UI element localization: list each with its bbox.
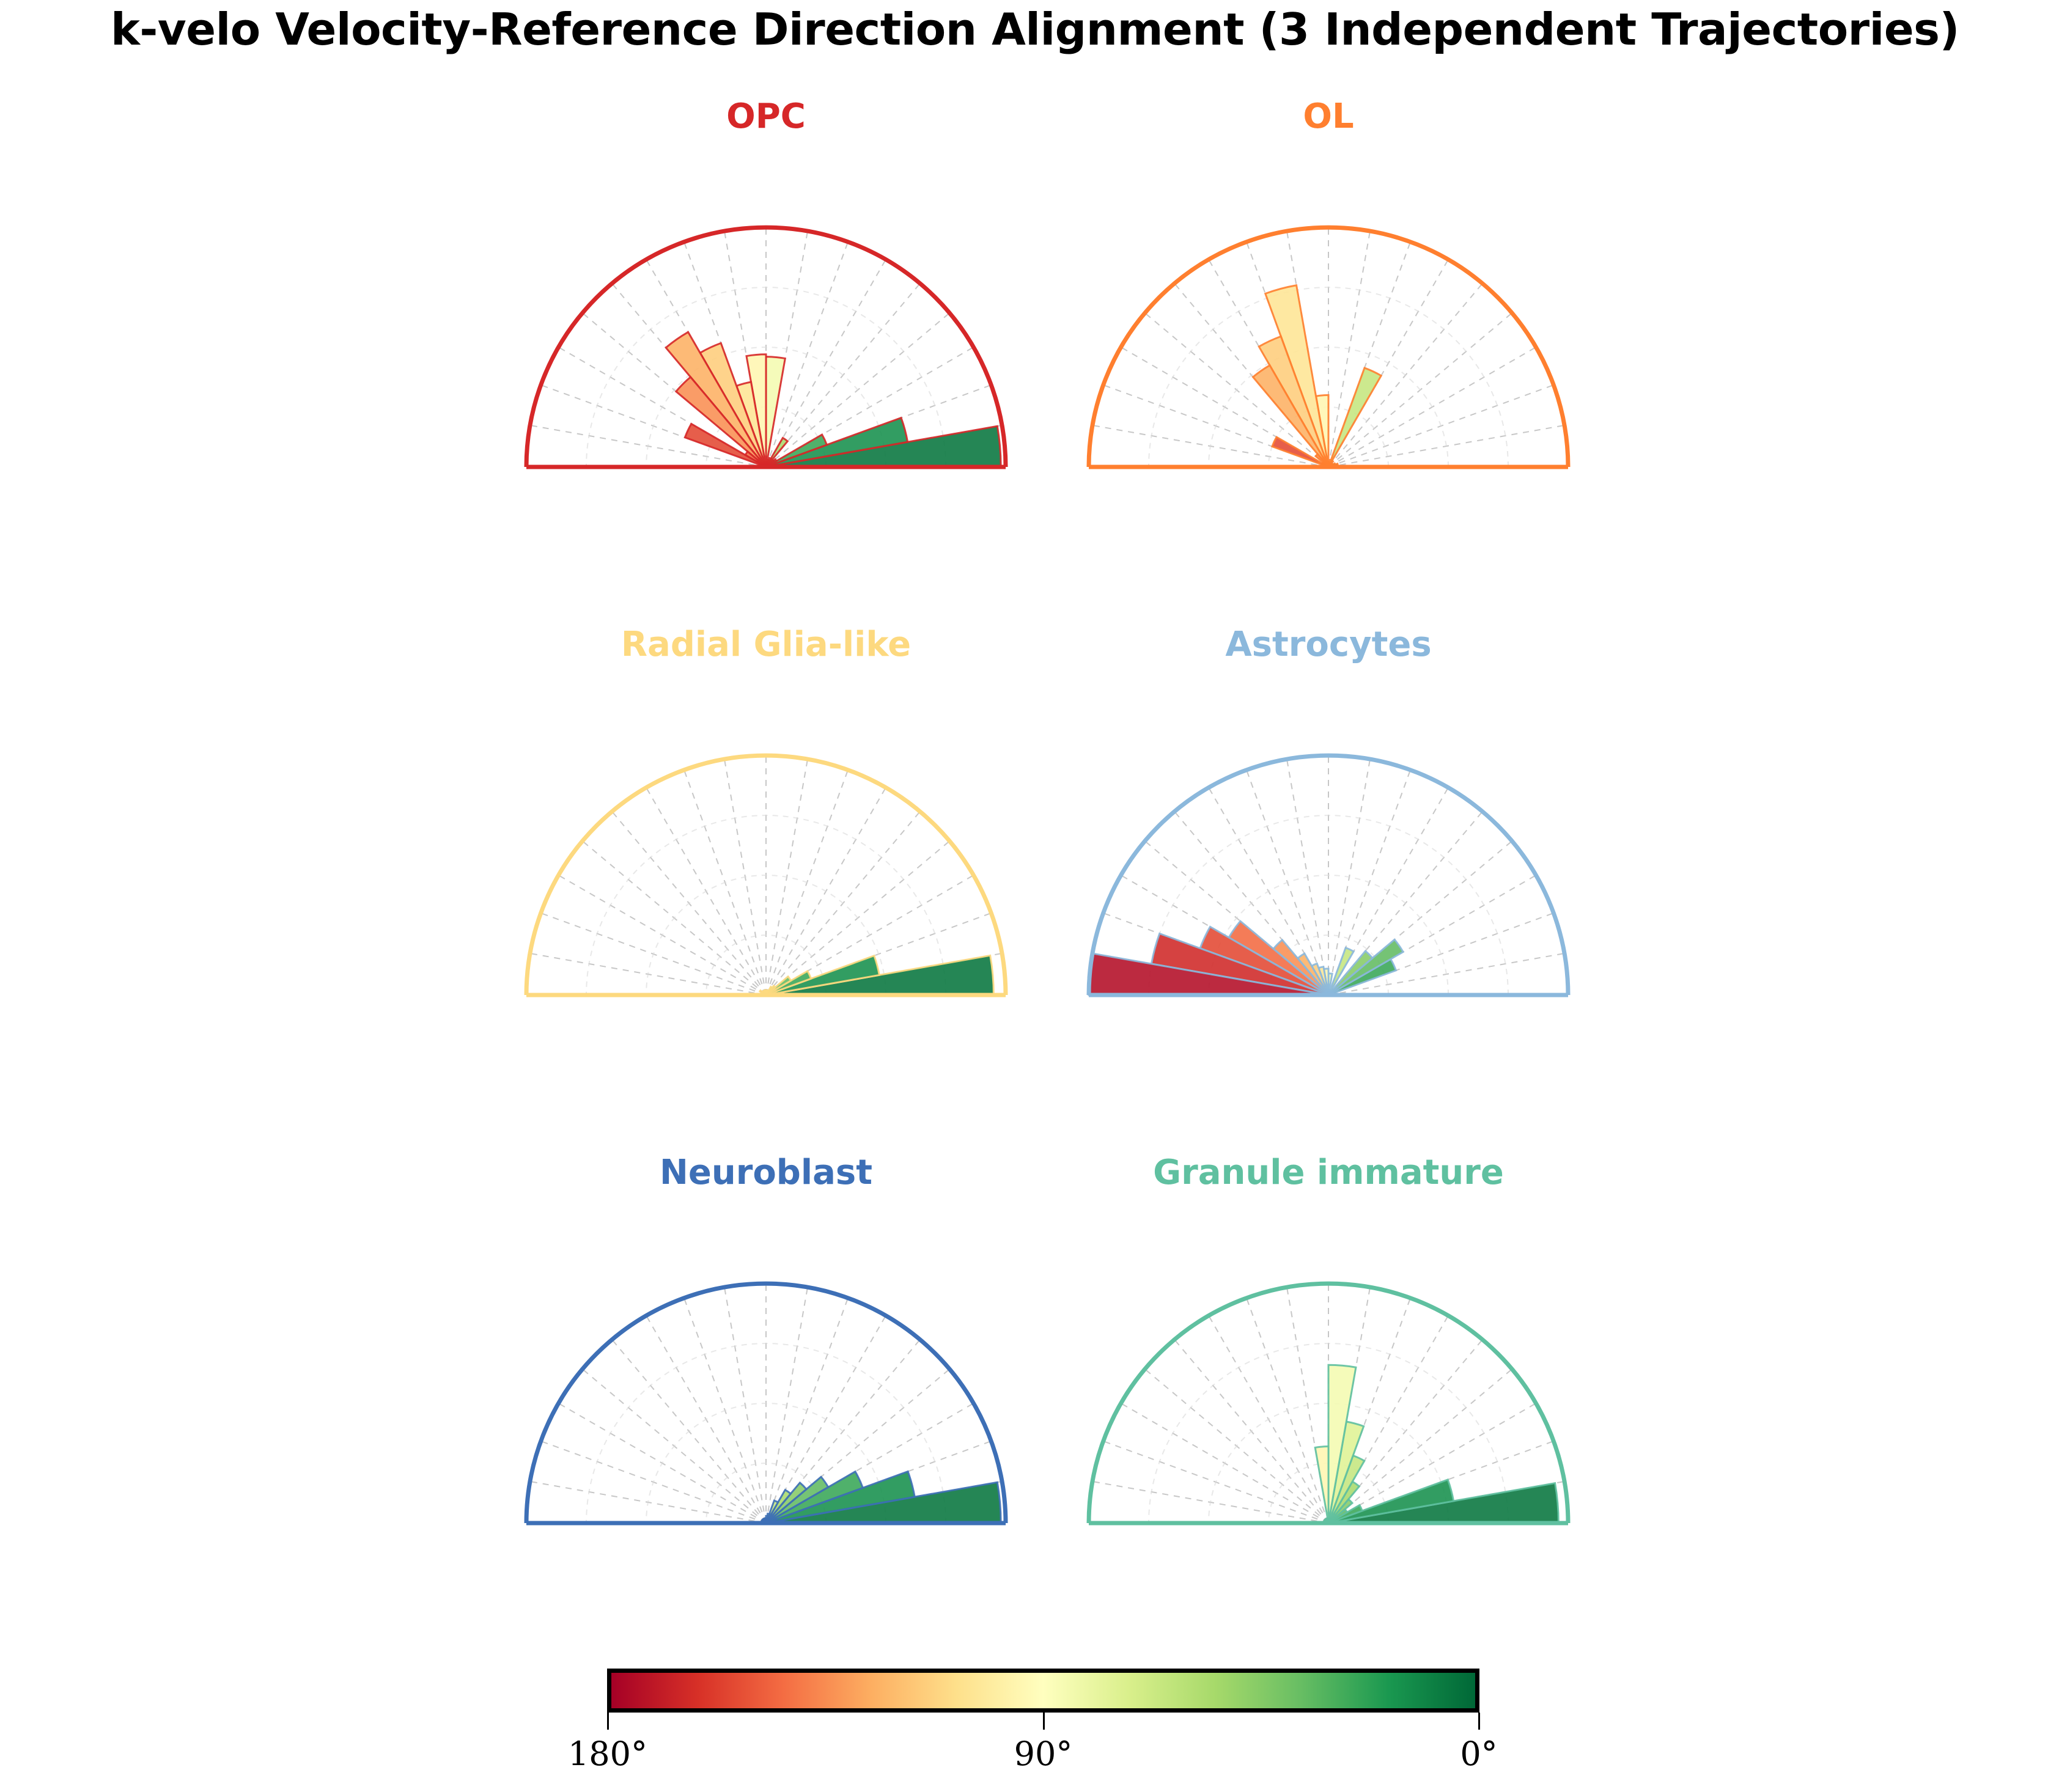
rose-plot-opc bbox=[508, 97, 1024, 491]
rose-plot-radial-glia-like bbox=[508, 625, 1024, 1019]
colorbar-label-180: 180° bbox=[528, 1735, 687, 1773]
colorbar-tick-90 bbox=[1043, 1713, 1045, 1730]
panel-radial-glia-like: Radial Glia-like bbox=[508, 625, 1024, 1019]
rose-bars bbox=[1253, 285, 1382, 467]
panel-opc: OPC bbox=[508, 97, 1024, 491]
colorbar-label-0: 0° bbox=[1399, 1735, 1558, 1773]
rose-bars bbox=[666, 332, 1001, 467]
radial-grid bbox=[530, 755, 1002, 995]
colorbar-label-90: 90° bbox=[964, 1735, 1123, 1773]
rose-plot-neuroblast bbox=[508, 1153, 1024, 1548]
rose-plot-astrocytes bbox=[1070, 625, 1586, 1019]
rose-plot-ol bbox=[1070, 97, 1586, 491]
radial-grid bbox=[530, 1283, 1002, 1523]
rose-bars bbox=[1315, 1365, 1558, 1523]
colorbar-tick-180 bbox=[607, 1713, 609, 1730]
figure-canvas: k-velo Velocity-Reference Direction Alig… bbox=[0, 0, 2070, 1792]
rose-bar bbox=[1328, 368, 1381, 467]
rose-bars bbox=[1089, 921, 1403, 995]
colorbar[interactable] bbox=[607, 1669, 1479, 1713]
colorbar-gradient bbox=[611, 1673, 1475, 1708]
figure-title: k-velo Velocity-Reference Direction Alig… bbox=[0, 4, 2070, 55]
panel-ol: OL bbox=[1070, 97, 1586, 491]
rose-bars bbox=[760, 955, 994, 995]
colorbar-frame bbox=[607, 1669, 1479, 1713]
rose-bars bbox=[761, 1472, 1001, 1523]
rose-plot-granule-immature bbox=[1070, 1153, 1586, 1548]
colorbar-tick-0 bbox=[1478, 1713, 1480, 1730]
panel-granule-immature: Granule immature bbox=[1070, 1153, 1586, 1548]
panel-astrocytes: Astrocytes bbox=[1070, 625, 1586, 1019]
panel-neuroblast: Neuroblast bbox=[508, 1153, 1024, 1548]
